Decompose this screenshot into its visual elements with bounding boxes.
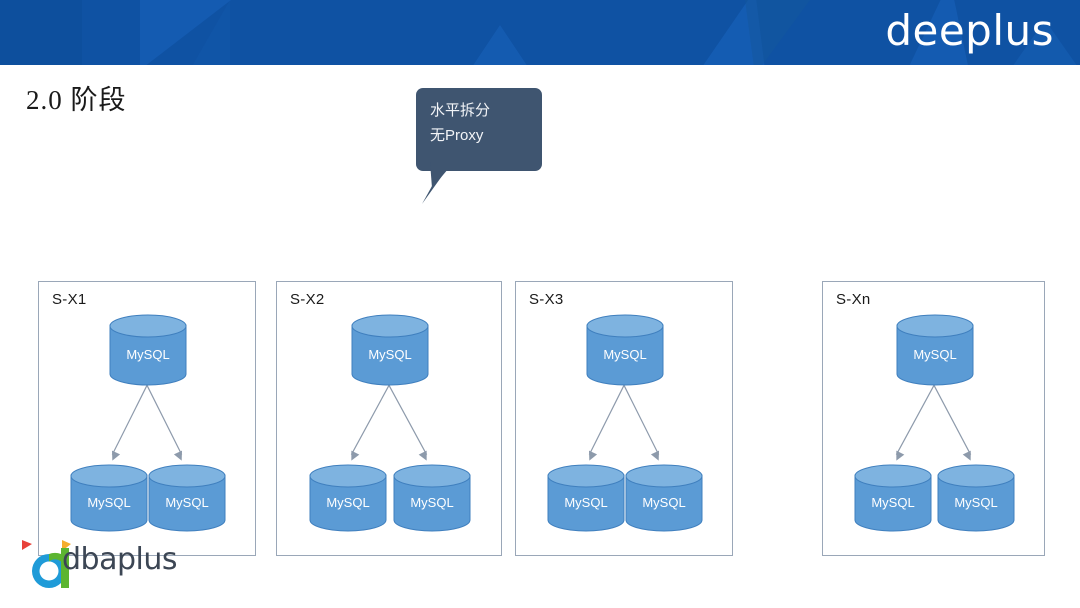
database-cylinder-icon — [70, 464, 148, 532]
shard-group-s-x3[interactable]: S-X3MySQLMySQLMySQL — [515, 281, 733, 556]
header-shape-6 — [745, 0, 810, 65]
master-database-node[interactable]: MySQL — [586, 314, 664, 386]
replication-arrow-head-icon — [419, 451, 427, 461]
page-title: 2.0 阶段 — [26, 78, 127, 117]
replication-arrow-head-icon — [589, 451, 597, 461]
database-cylinder-icon — [625, 464, 703, 532]
dbaplus-wordmark: dbaplus — [62, 542, 177, 577]
replication-arrow-head-icon — [963, 451, 971, 461]
slave-database-node[interactable]: MySQL — [148, 464, 226, 532]
header-shape-3 — [190, 0, 230, 65]
replication-arrow-head-icon — [896, 451, 904, 461]
shard-group-s-x1[interactable]: S-X1MySQLMySQLMySQL — [38, 281, 256, 556]
database-cylinder-icon — [896, 314, 974, 386]
header-shape-1 — [0, 0, 82, 65]
database-cylinder-icon — [586, 314, 664, 386]
slave-database-node[interactable]: MySQL — [309, 464, 387, 532]
replication-arrow-line — [934, 385, 971, 454]
callout-bubble: 水平拆分 无Proxy — [416, 88, 542, 171]
shard-group-label: S-X2 — [290, 291, 325, 308]
replication-arrow-line — [896, 385, 934, 454]
database-cylinder-icon — [148, 464, 226, 532]
header-banner: deeplus — [0, 0, 1080, 65]
database-cylinder-icon — [854, 464, 932, 532]
shard-group-label: S-X1 — [52, 291, 87, 308]
slave-database-node[interactable]: MySQL — [393, 464, 471, 532]
replication-arrow-line — [351, 385, 389, 454]
shard-group-label: S-X3 — [529, 291, 564, 308]
database-cylinder-icon — [937, 464, 1015, 532]
header-shape-4 — [470, 25, 530, 65]
shard-group-label: S-Xn — [836, 291, 871, 308]
replication-arrow-head-icon — [174, 451, 182, 461]
replication-arrow-head-icon — [351, 451, 359, 461]
replication-arrow-line — [147, 385, 182, 454]
slave-database-node[interactable]: MySQL — [854, 464, 932, 532]
master-database-node[interactable]: MySQL — [351, 314, 429, 386]
replication-arrow-head-icon — [651, 451, 659, 461]
database-cylinder-icon — [547, 464, 625, 532]
replication-arrow-line — [624, 385, 659, 454]
shard-group-s-x2[interactable]: S-X2MySQLMySQLMySQL — [276, 281, 502, 556]
database-cylinder-icon — [351, 314, 429, 386]
deeplus-wordmark: deeplus — [885, 8, 1054, 54]
callout-line-2: 无Proxy — [430, 123, 534, 148]
replication-arrow-line — [589, 385, 624, 454]
logo-accent-red — [22, 540, 32, 550]
replication-arrow-line — [389, 385, 427, 454]
database-cylinder-icon — [393, 464, 471, 532]
callout-text: 水平拆分 无Proxy — [430, 98, 534, 148]
replication-arrow-line — [112, 385, 147, 454]
slave-database-node[interactable]: MySQL — [547, 464, 625, 532]
database-cylinder-icon — [309, 464, 387, 532]
callout-line-1: 水平拆分 — [430, 98, 534, 123]
master-database-node[interactable]: MySQL — [896, 314, 974, 386]
master-database-node[interactable]: MySQL — [109, 314, 187, 386]
replication-arrow-head-icon — [112, 451, 120, 461]
slave-database-node[interactable]: MySQL — [937, 464, 1015, 532]
database-cylinder-icon — [109, 314, 187, 386]
callout-tail-icon — [420, 162, 460, 206]
slave-database-node[interactable]: MySQL — [70, 464, 148, 532]
shard-group-s-xn[interactable]: S-XnMySQLMySQLMySQL — [822, 281, 1045, 556]
slave-database-node[interactable]: MySQL — [625, 464, 703, 532]
deeplus-logo: deeplus — [864, 8, 1054, 54]
